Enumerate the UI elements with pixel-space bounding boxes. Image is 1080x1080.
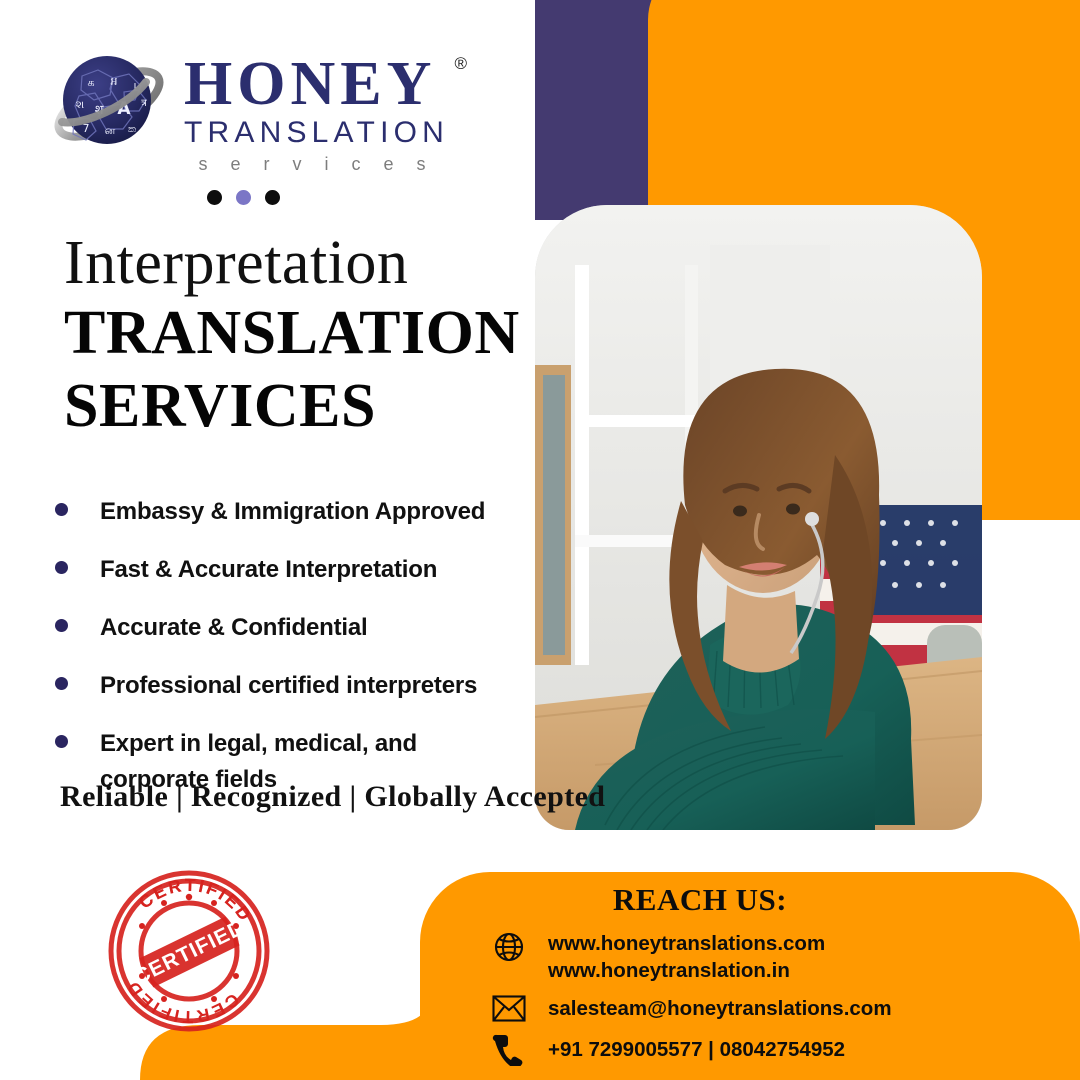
logo-wordmark-primary: HONEY [184, 54, 449, 115]
registered-trademark-icon: ® [454, 54, 467, 74]
svg-text:ன: ன [105, 124, 116, 137]
website-line-1: www.honeytranslations.com [548, 932, 825, 955]
feature-text: Accurate & Confidential [100, 610, 367, 646]
globe-icon [492, 930, 534, 964]
photo-corner-notch [535, 640, 655, 760]
bullet-dot-icon [55, 561, 68, 574]
reach-us-heading: REACH US: [420, 882, 980, 918]
contact-row-phone[interactable]: +91 7299005577 | 08042754952 [492, 1033, 892, 1066]
contact-row-email[interactable]: salesteam@honeytranslations.com [492, 995, 892, 1022]
tagline: Reliable | Recognized | Globally Accepte… [60, 780, 605, 814]
headline-bold-line-1: TRANSLATION [64, 300, 520, 367]
svg-text:អ: អ [111, 75, 118, 88]
bullet-dot-icon [55, 735, 68, 748]
globe-languages-icon: க អ I શ श A त्र 7 ன ක [52, 48, 170, 158]
bullet-dot-icon [55, 503, 68, 516]
svg-text:શ: શ [76, 98, 85, 111]
contact-row-website[interactable]: www.honeytranslations.com www.honeytrans… [492, 930, 892, 984]
contact-list: www.honeytranslations.com www.honeytrans… [492, 930, 892, 1077]
phone-text: +91 7299005577 | 08042754952 [548, 1036, 845, 1063]
logo-wordmark-tertiary: s e r v i c e s [184, 154, 449, 175]
website-line-2: www.honeytranslation.in [548, 959, 790, 982]
feature-text: Professional certified interpreters [100, 668, 477, 704]
email-text: salesteam@honeytranslations.com [548, 995, 892, 1022]
brand-logo[interactable]: க អ I શ श A त्र 7 ன ක HONEY ® TRANSLATIO… [52, 48, 449, 175]
dot-3 [265, 190, 280, 205]
bullet-dot-icon [55, 677, 68, 690]
certified-stamp-icon: CERTIFIED CERTIFIED CERTIFIED CERTIFIED [104, 866, 274, 1036]
logo-dot-group [207, 190, 280, 205]
phone-icon [492, 1033, 534, 1066]
feature-list: Embassy & Immigration Approved Fast & Ac… [55, 494, 525, 820]
feature-text: Fast & Accurate Interpretation [100, 552, 437, 588]
list-item: Embassy & Immigration Approved [55, 494, 525, 530]
dot-2 [236, 190, 251, 205]
headline-bold-line-2: SERVICES [64, 373, 520, 440]
svg-text:க: க [87, 76, 94, 89]
website-text: www.honeytranslations.com www.honeytrans… [548, 930, 825, 984]
list-item: Accurate & Confidential [55, 610, 525, 646]
list-item: Professional certified interpreters [55, 668, 525, 704]
poster-canvas: க អ I શ श A त्र 7 ன ක HONEY ® TRANSLATIO… [0, 0, 1080, 1080]
svg-text:त्र: त्र [141, 98, 147, 109]
dot-1 [207, 190, 222, 205]
feature-text: Embassy & Immigration Approved [100, 494, 485, 530]
headline-block: Interpretation TRANSLATION SERVICES [64, 232, 520, 440]
envelope-icon [492, 995, 534, 1022]
headline-script-line: Interpretation [64, 232, 520, 294]
list-item: Fast & Accurate Interpretation [55, 552, 525, 588]
svg-text:ක: ක [128, 124, 136, 135]
logo-wordmark-secondary: TRANSLATION [184, 117, 449, 149]
bullet-dot-icon [55, 619, 68, 632]
